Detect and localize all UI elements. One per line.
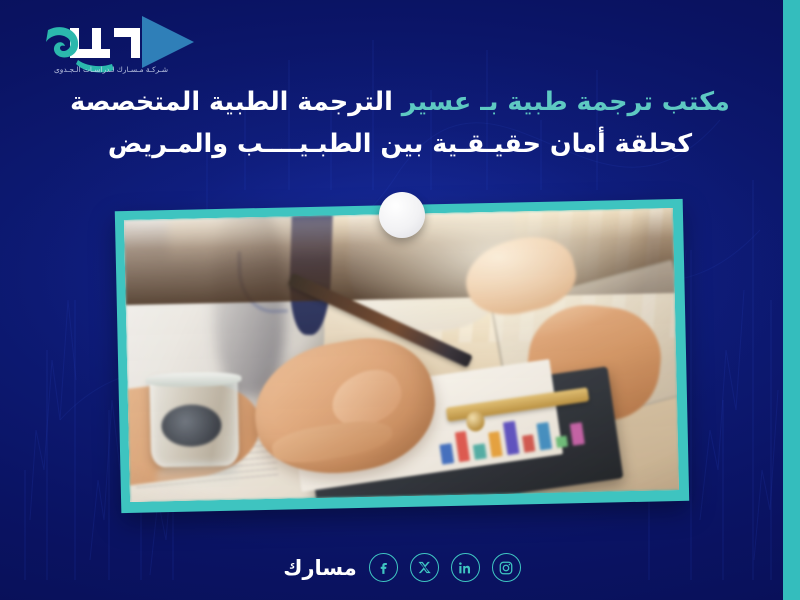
photo-image [124, 208, 679, 502]
photo-clipboard-knob [466, 411, 485, 431]
facebook-icon[interactable] [369, 553, 398, 582]
headline-rest-text: الترجمة الطبية المتخصصة [70, 87, 402, 117]
logo-tagline: شـركـة مـسـارك لـدراسـات الـجـدوى [22, 65, 200, 74]
headline-line-2: كحلقة أمان حقيـقـية بين الطبـيــــب والم… [48, 128, 752, 162]
photo-card [115, 199, 689, 513]
headline-block: مكتب ترجمة طبية بـ عسير الترجمة الطبية ا… [0, 86, 800, 161]
footer-social-bar: مسارك [0, 553, 800, 582]
brand-logo[interactable]: شـركـة مـسـارك لـدراسـات الـجـدوى [18, 8, 208, 80]
poster-canvas: شـركـة مـسـارك لـدراسـات الـجـدوى مكتب ت… [0, 0, 800, 600]
headline-line-1: مكتب ترجمة طبية بـ عسير الترجمة الطبية ا… [48, 86, 752, 120]
circle-accent-decoration [379, 192, 425, 238]
instagram-icon[interactable] [492, 553, 521, 582]
linkedin-icon[interactable] [451, 553, 480, 582]
footer-brand-name: مسارك [283, 556, 357, 580]
headline-accent-text: مكتب ترجمة طبية بـ عسير [402, 87, 730, 117]
x-twitter-icon[interactable] [410, 553, 439, 582]
